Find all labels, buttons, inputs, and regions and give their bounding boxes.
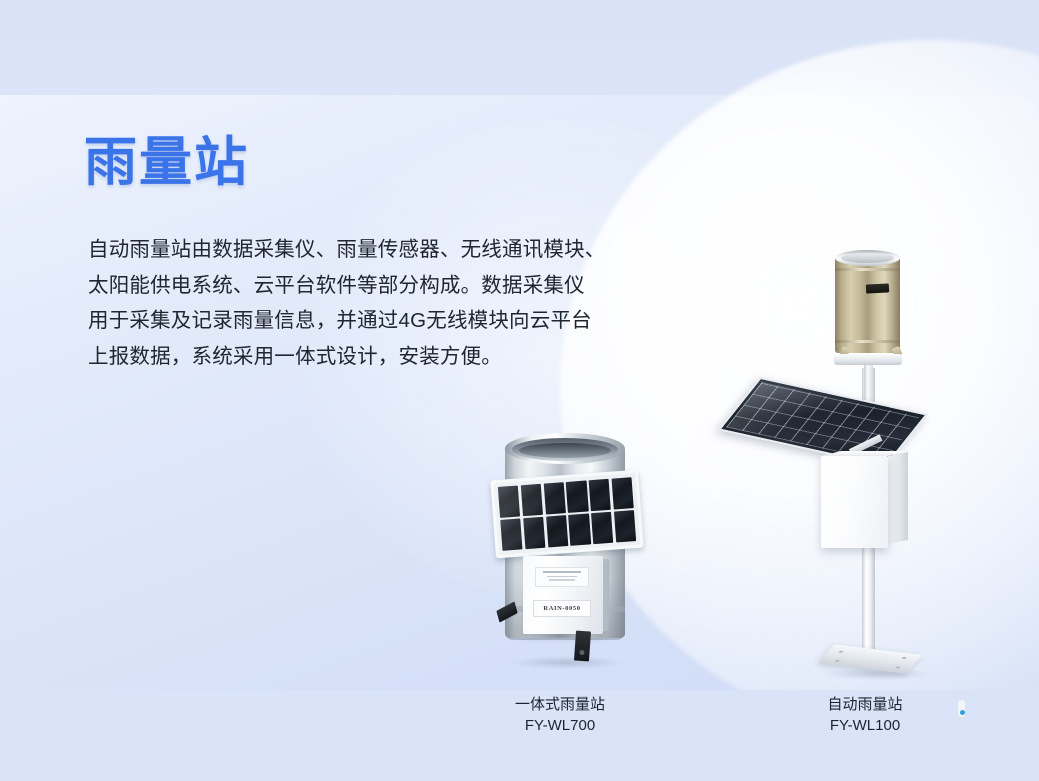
product-image-fy-wl700: RAIN-0050 xyxy=(455,428,670,678)
solar-cell xyxy=(589,479,611,511)
description-line-2: 太阳能供电系统、云平台软件等部分构成。数据采集仪 xyxy=(88,268,728,304)
base-bolt-hole xyxy=(895,666,901,668)
solar-cell xyxy=(611,477,633,509)
solar-cell xyxy=(566,481,588,513)
page-title: 雨量站 xyxy=(84,133,249,194)
foot-bolt-hole xyxy=(579,650,584,655)
solar-cell xyxy=(546,515,568,547)
collector-funnel xyxy=(519,443,611,458)
cabinet-side xyxy=(888,452,908,544)
label-line xyxy=(543,571,581,573)
cabinet-front xyxy=(821,456,888,548)
bucket-hoop xyxy=(835,268,900,271)
description-line-3: 用于采集及记录雨量信息，并通过4G无线模块向云平台 xyxy=(88,303,728,339)
product-name: 自动雨量站 xyxy=(745,694,985,715)
product-slide: 雨量站 自动雨量站由数据采集仪、雨量传感器、无线通讯模块、 太阳能供电系统、云平… xyxy=(0,0,1039,781)
product-name: 一体式雨量站 xyxy=(440,694,680,715)
solar-cell xyxy=(614,510,636,542)
solar-cell xyxy=(523,517,545,549)
product-model: FY-WL700 xyxy=(440,715,680,736)
description-paragraph: 自动雨量站由数据采集仪、雨量传感器、无线通讯模块、 太阳能供电系统、云平台软件等… xyxy=(88,232,728,374)
solar-cell xyxy=(543,482,565,514)
bucket-mouth-inner xyxy=(841,253,894,263)
mounting-foot-right xyxy=(574,631,591,662)
product-model: FY-WL100 xyxy=(745,715,985,736)
product-ground-shadow xyxy=(511,656,623,669)
base-bolt-hole xyxy=(838,651,844,653)
controller-model-label: RAIN-0050 xyxy=(533,600,591,617)
label-line xyxy=(547,576,577,578)
solar-panel-glare xyxy=(726,382,920,462)
solar-panel xyxy=(490,470,643,559)
solar-cell xyxy=(568,514,590,546)
bucket-hoop xyxy=(835,340,900,343)
description-line-4: 上报数据，系统采用一体式设计，安装方便。 xyxy=(88,339,728,375)
solar-cell xyxy=(591,512,613,544)
product-caption-fy-wl100: 自动雨量站 FY-WL100 xyxy=(745,694,985,736)
product-caption-fy-wl700: 一体式雨量站 FY-WL700 xyxy=(440,694,680,736)
controller-box: RAIN-0050 xyxy=(523,556,603,634)
product-image-fy-wl100 xyxy=(725,248,975,688)
bucket-nameplate xyxy=(866,283,889,293)
solar-cell xyxy=(500,519,522,551)
bucket-mount-plate xyxy=(834,354,902,365)
label-line xyxy=(549,579,575,581)
base-bolt-hole xyxy=(835,660,841,662)
solar-cell xyxy=(521,484,543,516)
base-bolt-hole xyxy=(901,657,907,659)
solar-cell xyxy=(498,486,520,518)
description-line-1: 自动雨量站由数据采集仪、雨量传感器、无线通讯模块、 xyxy=(88,232,728,268)
controller-spec-label xyxy=(535,567,589,587)
